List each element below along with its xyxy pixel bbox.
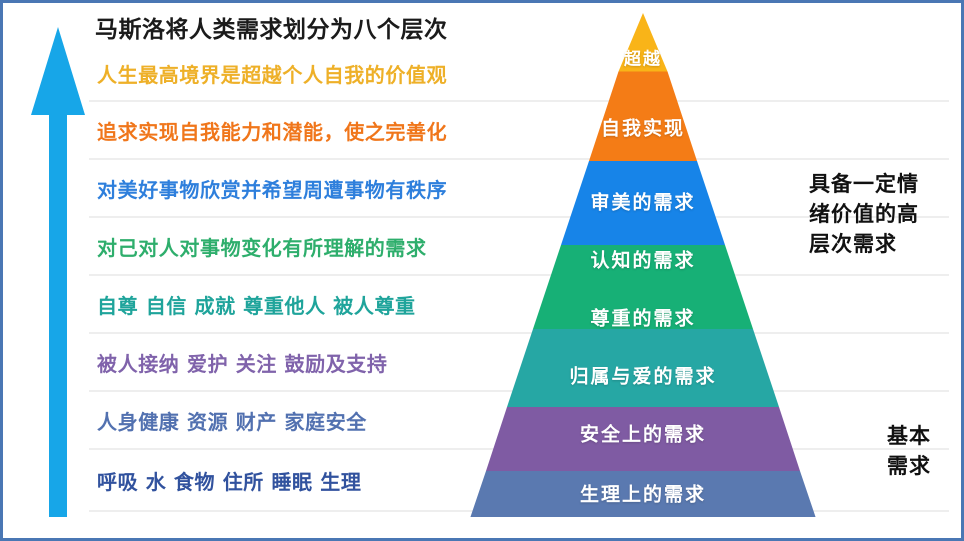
pyramid-tier-8 (619, 13, 668, 72)
upward-arrow-icon (27, 27, 89, 517)
pyramid-shape (419, 9, 869, 517)
pyramid-tier-6 (561, 161, 725, 245)
level-description-1: 呼吸 水 食物 住所 睡眠 生理 (89, 466, 361, 495)
level-description-6: 对美好事物欣赏并希望周遭事物有秩序 (89, 174, 447, 203)
level-description-8: 人生最高境界是超越个人自我的价值观 (89, 59, 447, 88)
pyramid-chart: 超越 自我实现 审美的需求 认知的需求 尊重的需求 归属与爱的需求 安全上的需求… (419, 9, 869, 517)
pyramid-tier-5 (533, 245, 753, 329)
pyramid-tier-7 (589, 72, 697, 162)
level-description-3: 被人接纳 爱护 关注 鼓励及支持 (89, 348, 388, 377)
annotation-basic-line-1: 基本 (887, 421, 957, 451)
annotation-basic-needs: 基本 需求 (887, 421, 957, 481)
annotation-high-line-3: 层次需求 (809, 229, 949, 259)
pyramid-tier-2 (463, 471, 823, 517)
level-description-4: 自尊 自信 成就 尊重他人 被人尊重 (89, 290, 416, 319)
pyramid-tier-4 (507, 329, 779, 407)
maslow-hierarchy-diagram: 马斯洛将人类需求划分为八个层次 人生最高境界是超越个人自我的价值观 追求实现自我… (0, 0, 964, 541)
level-description-7: 追求实现自我能力和潜能，使之完善化 (89, 116, 447, 145)
upward-growth-arrow (27, 27, 89, 517)
level-description-2: 人身健康 资源 财产 家庭安全 (89, 406, 367, 435)
annotation-high-line-2: 绪价值的高 (809, 199, 949, 229)
level-description-5: 对己对人对事物变化有所理解的需求 (89, 232, 427, 261)
annotation-basic-line-2: 需求 (887, 451, 957, 481)
pyramid-tier-3 (486, 407, 800, 471)
annotation-high-line-1: 具备一定情 (809, 169, 949, 199)
annotation-high-level-needs: 具备一定情 绪价值的高 层次需求 (809, 169, 949, 258)
